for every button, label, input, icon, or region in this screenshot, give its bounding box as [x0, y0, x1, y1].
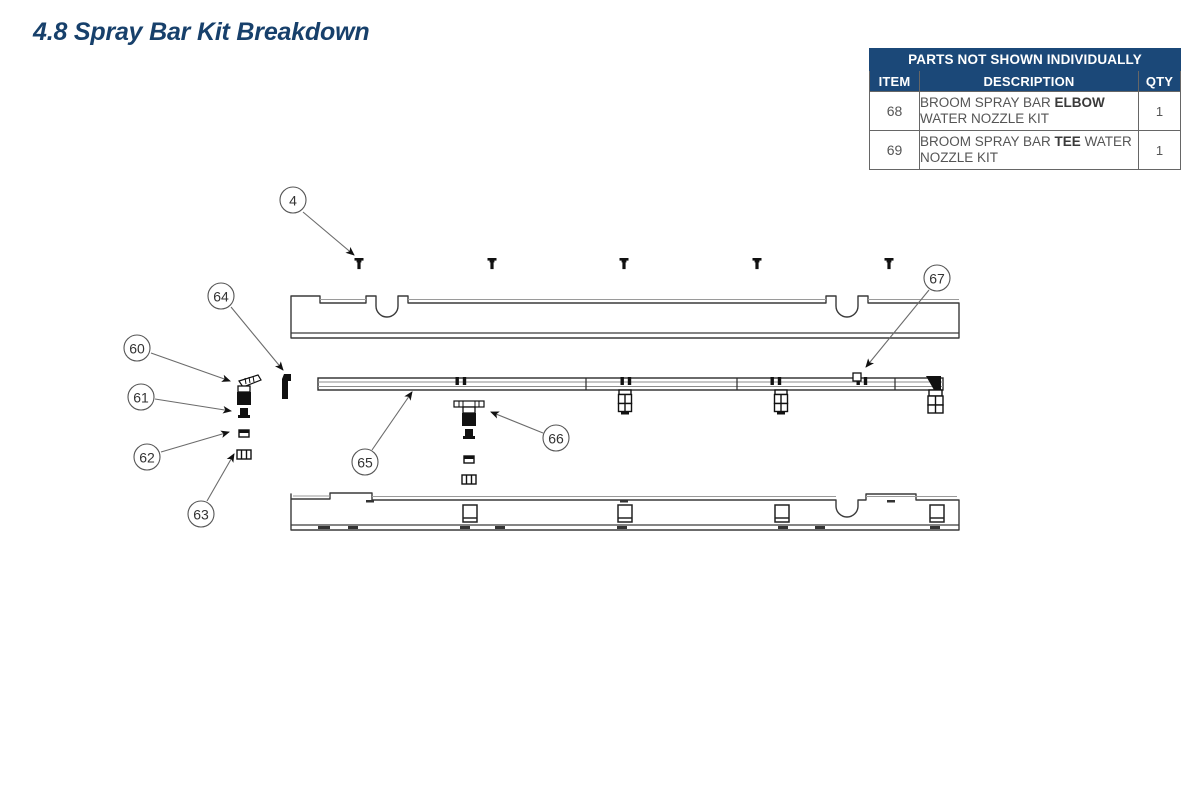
page-title: 4.8 Spray Bar Kit Breakdown [33, 18, 369, 47]
part-61-insert [238, 408, 250, 418]
leader-line-66 [491, 412, 543, 433]
table-row: 68 BROOM SPRAY BAR ELBOW WATER NOZZLE KI… [870, 92, 1181, 131]
leader-line-62 [161, 432, 229, 452]
bottom-bracket [291, 493, 959, 530]
callout-4[interactable]: 4 [280, 187, 306, 213]
desc-emphasis: ELBOW [1055, 95, 1105, 110]
table-title: PARTS NOT SHOWN INDIVIDUALLY [870, 49, 1181, 71]
row-qty: 1 [1139, 92, 1181, 131]
callout-62[interactable]: 62 [134, 444, 160, 470]
callout-63[interactable]: 63 [188, 501, 214, 527]
table-title-row: PARTS NOT SHOWN INDIVIDUALLY [870, 49, 1181, 71]
callout-label: 4 [289, 193, 297, 209]
callout-bubbles: 4 64 60 61 62 63 65 66 [124, 187, 950, 527]
desc-prefix: BROOM SPRAY BAR [920, 95, 1055, 110]
callout-label: 61 [133, 390, 149, 406]
part-63-nut [237, 450, 251, 459]
exploded-tee-nozzle-parts [454, 401, 484, 484]
desc-emphasis: TEE [1055, 134, 1081, 149]
callout-66[interactable]: 66 [543, 425, 569, 451]
column-header-description: DESCRIPTION [920, 71, 1139, 92]
tee-part-insert [463, 429, 475, 439]
spray-bar-clamps [456, 373, 868, 385]
row-qty: 1 [1139, 131, 1181, 170]
part-64-standoff [282, 374, 291, 399]
column-header-qty: QTY [1139, 71, 1181, 92]
callout-leader-lines [151, 212, 929, 501]
leader-line-4 [303, 212, 354, 255]
callout-60[interactable]: 60 [124, 335, 150, 361]
leader-line-67 [866, 290, 929, 367]
leader-line-61 [155, 399, 231, 411]
bottom-bracket-clips [463, 505, 944, 522]
parts-not-shown-table: PARTS NOT SHOWN INDIVIDUALLY ITEM DESCRI… [869, 48, 1181, 170]
callout-label: 65 [357, 455, 373, 471]
tee-part-washer [464, 456, 474, 463]
callout-65[interactable]: 65 [352, 449, 378, 475]
row-item-number: 68 [870, 92, 920, 131]
part-60-elbow-nozzle [237, 375, 261, 405]
callout-67[interactable]: 67 [924, 265, 950, 291]
row-description: BROOM SPRAY BAR ELBOW WATER NOZZLE KIT [920, 92, 1139, 131]
callout-label: 64 [213, 289, 229, 305]
part-62-washer [239, 430, 249, 437]
part-66-tee-nozzle [454, 401, 484, 426]
row-item-number: 69 [870, 131, 920, 170]
desc-suffix: WATER NOZZLE KIT [920, 111, 1049, 126]
callout-64[interactable]: 64 [208, 283, 234, 309]
callout-label: 62 [139, 450, 155, 466]
row-description: BROOM SPRAY BAR TEE WATER NOZZLE KIT [920, 131, 1139, 170]
callout-61[interactable]: 61 [128, 384, 154, 410]
spray-bar-tube [318, 378, 943, 390]
callout-label: 66 [548, 431, 564, 447]
top-bracket [291, 296, 959, 338]
mounting-bolts [355, 258, 894, 269]
leader-line-64 [231, 307, 283, 370]
exploded-elbow-nozzle-parts [237, 375, 261, 459]
callout-label: 67 [929, 271, 945, 287]
leader-line-65 [372, 392, 412, 450]
callout-label: 60 [129, 341, 145, 357]
spray-bar-nozzle-drops [619, 390, 788, 415]
callout-label: 63 [193, 507, 209, 523]
tee-part-nut [462, 475, 476, 484]
table-header-row: ITEM DESCRIPTION QTY [870, 71, 1181, 92]
leader-line-63 [207, 454, 234, 501]
desc-prefix: BROOM SPRAY BAR [920, 134, 1055, 149]
end-elbow-nozzle [926, 376, 943, 413]
table-row: 69 BROOM SPRAY BAR TEE WATER NOZZLE KIT … [870, 131, 1181, 170]
leader-line-60 [151, 353, 230, 381]
column-header-item: ITEM [870, 71, 920, 92]
